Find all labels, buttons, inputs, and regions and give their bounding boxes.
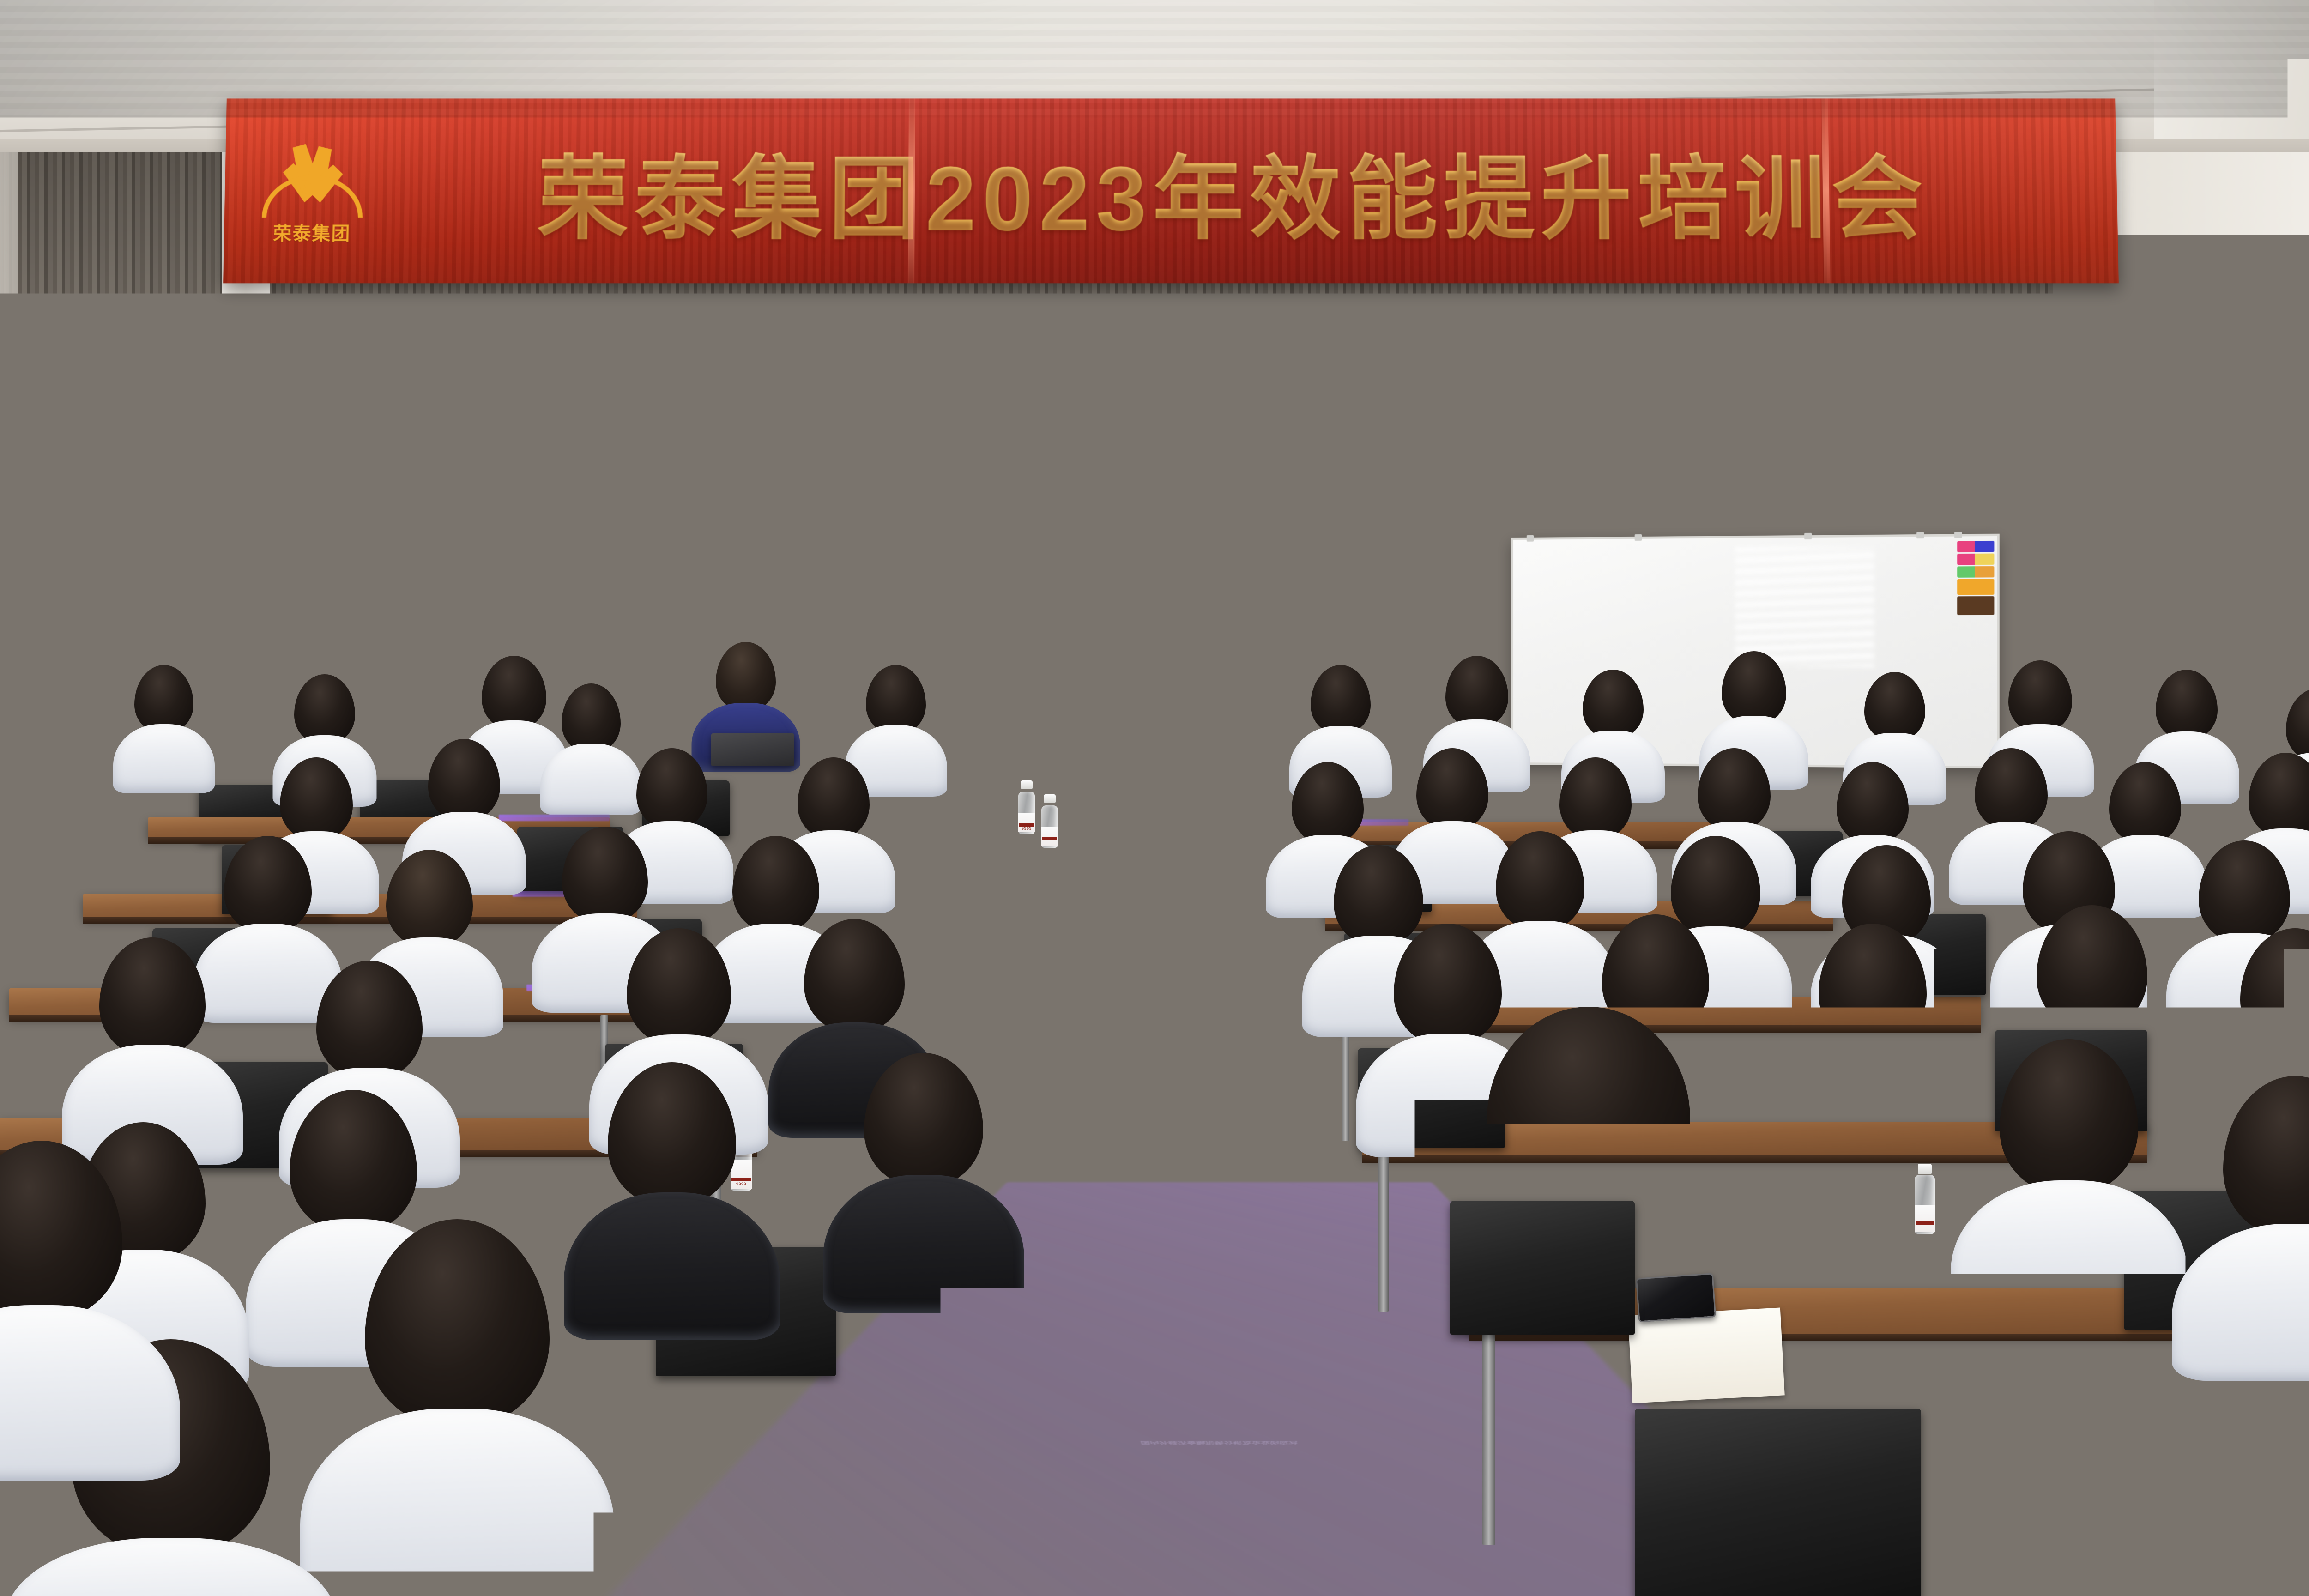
slide-time: 时间：2023年8月13日9.00——17.00 — [1018, 677, 1360, 677]
attendee — [118, 665, 210, 780]
slide-speaker-line-3: 山东天鹅生物高科技股份有限公司独立董事 — [1018, 637, 1360, 655]
whiteboard-magnets[interactable] — [1957, 541, 1994, 617]
water-bottle[interactable] — [1039, 794, 1060, 845]
display-control-strip[interactable] — [1237, 685, 1287, 690]
attendee — [831, 1053, 1016, 1275]
slide-speaker-line-0: 主讲：对外经济贸易大学外聘教授 — [1018, 581, 1360, 600]
attendee-front — [2198, 1201, 2309, 1596]
whiteboard-glare — [1735, 546, 1874, 667]
attendee-front — [0, 1141, 166, 1436]
whiteboard-clip — [1916, 532, 1924, 538]
attendee-blue-shirt — [1427, 1007, 1750, 1330]
slide-logistics: 时间：2023年8月13日9.00——17.00 地点：山东省青岛市西海岸新区 — [1018, 677, 1360, 677]
slide-title-line2: 兼谈房地产业未来走势 — [1018, 496, 1360, 520]
sunburst-icon — [259, 136, 367, 215]
slide-organizer: 青岛荣泰丰控股集团 — [1018, 538, 1360, 554]
whiteboard-clip — [1954, 532, 1962, 538]
desk-leg — [845, 1362, 858, 1566]
desk-leg — [1342, 1025, 1349, 1141]
attendee — [1787, 924, 1958, 1127]
water-bottle[interactable]: 9999 — [1016, 780, 1037, 831]
attendee-front — [1469, 1298, 1764, 1596]
banner-title: 荣泰集团2023年效能提升培训会 — [381, 126, 2118, 256]
wall-left — [0, 152, 18, 776]
slide-speaker-block: 主讲：对外经济贸易大学外聘教授 辽宁大学教授 博士研究生导师 山东天鹅生物高科技… — [1018, 581, 1360, 655]
slide-speaker-line-2: 博士研究生导师 — [1018, 618, 1360, 637]
presenter-head — [716, 642, 776, 711]
logo-wordmark: 荣泰集团 — [273, 218, 351, 245]
company-logo: 荣泰集团 — [242, 121, 383, 260]
ceiling-soffit — [2154, 0, 2309, 152]
meeting-room-photo: 荣泰集团 荣泰集团2023年效能提升培训会 国内外经济金融形势分析及企业的应对 … — [0, 0, 2309, 1596]
desk-leg — [1378, 1155, 1389, 1312]
slide-speaker-line-1: 辽宁大学教授 — [1018, 600, 1360, 618]
slide-title: 国内外经济金融形势分析及企业的应对 兼谈房地产业未来走势 — [1018, 470, 1360, 520]
slide-screen: 国内外经济金融形势分析及企业的应对 兼谈房地产业未来走势 青岛荣泰丰控股集团 主… — [994, 451, 1378, 677]
display-control-strip[interactable] — [1098, 685, 1154, 690]
whiteboard-clip — [1527, 535, 1534, 542]
slide-title-line1: 国内外经济金融形势分析及企业的应对 — [1018, 470, 1360, 494]
whiteboard-clip — [1635, 534, 1642, 541]
whiteboard-clip — [1804, 533, 1812, 539]
attendee — [573, 1062, 771, 1302]
attendee-front — [314, 1219, 600, 1570]
attendee-front — [1898, 1173, 2203, 1596]
attendee — [69, 937, 236, 1136]
slide-speaker-name: 刘光彦 — [1309, 624, 1347, 641]
presentation-display[interactable]: 国内外经济金融形势分析及企业的应对 兼谈房地产业未来走势 青岛荣泰丰控股集团 主… — [987, 443, 1384, 693]
event-banner: 荣泰集团 荣泰集团2023年效能提升培训会 — [223, 98, 2119, 283]
